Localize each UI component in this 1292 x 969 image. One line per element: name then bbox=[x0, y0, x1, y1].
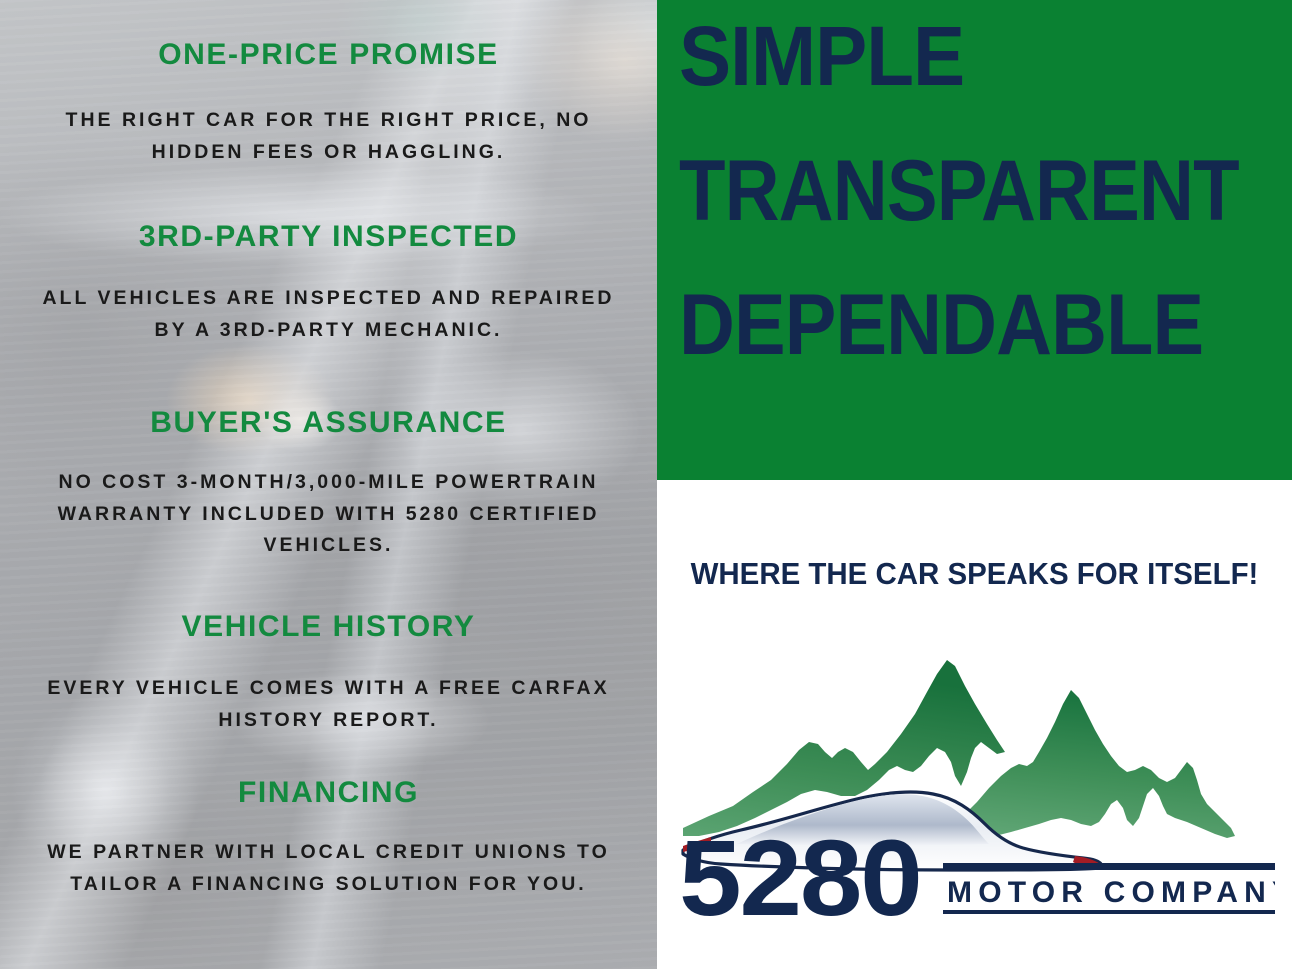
headline-panel: SIMPLE TRANSPARENT DEPENDABLE bbox=[657, 0, 1292, 480]
feature-financing: FINANCING WE PARTNER WITH LOCAL CREDIT U… bbox=[16, 776, 641, 900]
feature-title: VEHICLE HISTORY bbox=[16, 610, 641, 643]
mountain-right-icon bbox=[947, 690, 1235, 838]
feature-body: NO COST 3-MONTH/3,000-MILE POWERTRAIN WA… bbox=[16, 467, 641, 562]
feature-body: ALL VEHICLES ARE INSPECTED AND REPAIRED … bbox=[16, 283, 641, 346]
logo-wordmark-text: 5280 bbox=[679, 818, 921, 920]
logo-rule-top bbox=[943, 863, 1275, 870]
headline-word-dependable: DEPENDABLE bbox=[679, 282, 1215, 368]
logo-subtitle-text: MOTOR COMPANY bbox=[947, 876, 1275, 909]
feature-title: 3RD-PARTY INSPECTED bbox=[16, 220, 641, 253]
headline-words: SIMPLE TRANSPARENT DEPENDABLE bbox=[679, 14, 1274, 368]
feature-title: ONE-PRICE PROMISE bbox=[16, 38, 641, 71]
headline-word-transparent: TRANSPARENT bbox=[679, 148, 1206, 234]
feature-body: WE PARTNER WITH LOCAL CREDIT UNIONS TO T… bbox=[16, 837, 641, 900]
logo-rule-bottom bbox=[943, 910, 1275, 914]
feature-body: THE RIGHT CAR FOR THE RIGHT PRICE, NO HI… bbox=[16, 105, 641, 168]
advertisement-poster: ONE-PRICE PROMISE THE RIGHT CAR FOR THE … bbox=[0, 0, 1292, 969]
feature-one-price-promise: ONE-PRICE PROMISE THE RIGHT CAR FOR THE … bbox=[16, 38, 641, 168]
tagline: WHERE THE CAR SPEAKS FOR ITSELF! bbox=[673, 556, 1276, 592]
logo-wordmark: 5280 bbox=[679, 818, 921, 920]
feature-buyers-assurance: BUYER'S ASSURANCE NO COST 3-MONTH/3,000-… bbox=[16, 406, 641, 562]
brand-panel: WHERE THE CAR SPEAKS FOR ITSELF! bbox=[657, 480, 1292, 969]
feature-title: BUYER'S ASSURANCE bbox=[16, 406, 641, 439]
feature-3rd-party-inspected: 3RD-PARTY INSPECTED ALL VEHICLES ARE INS… bbox=[16, 220, 641, 346]
headline-word-simple: SIMPLE bbox=[679, 14, 1232, 98]
features-panel: ONE-PRICE PROMISE THE RIGHT CAR FOR THE … bbox=[0, 0, 657, 969]
logo-5280-motor-company: 5280 MOTOR COMPANY bbox=[675, 630, 1275, 920]
features-list: ONE-PRICE PROMISE THE RIGHT CAR FOR THE … bbox=[0, 0, 657, 969]
feature-body: EVERY VEHICLE COMES WITH A FREE CARFAX H… bbox=[16, 673, 641, 736]
feature-title: FINANCING bbox=[16, 776, 641, 809]
feature-vehicle-history: VEHICLE HISTORY EVERY VEHICLE COMES WITH… bbox=[16, 610, 641, 736]
